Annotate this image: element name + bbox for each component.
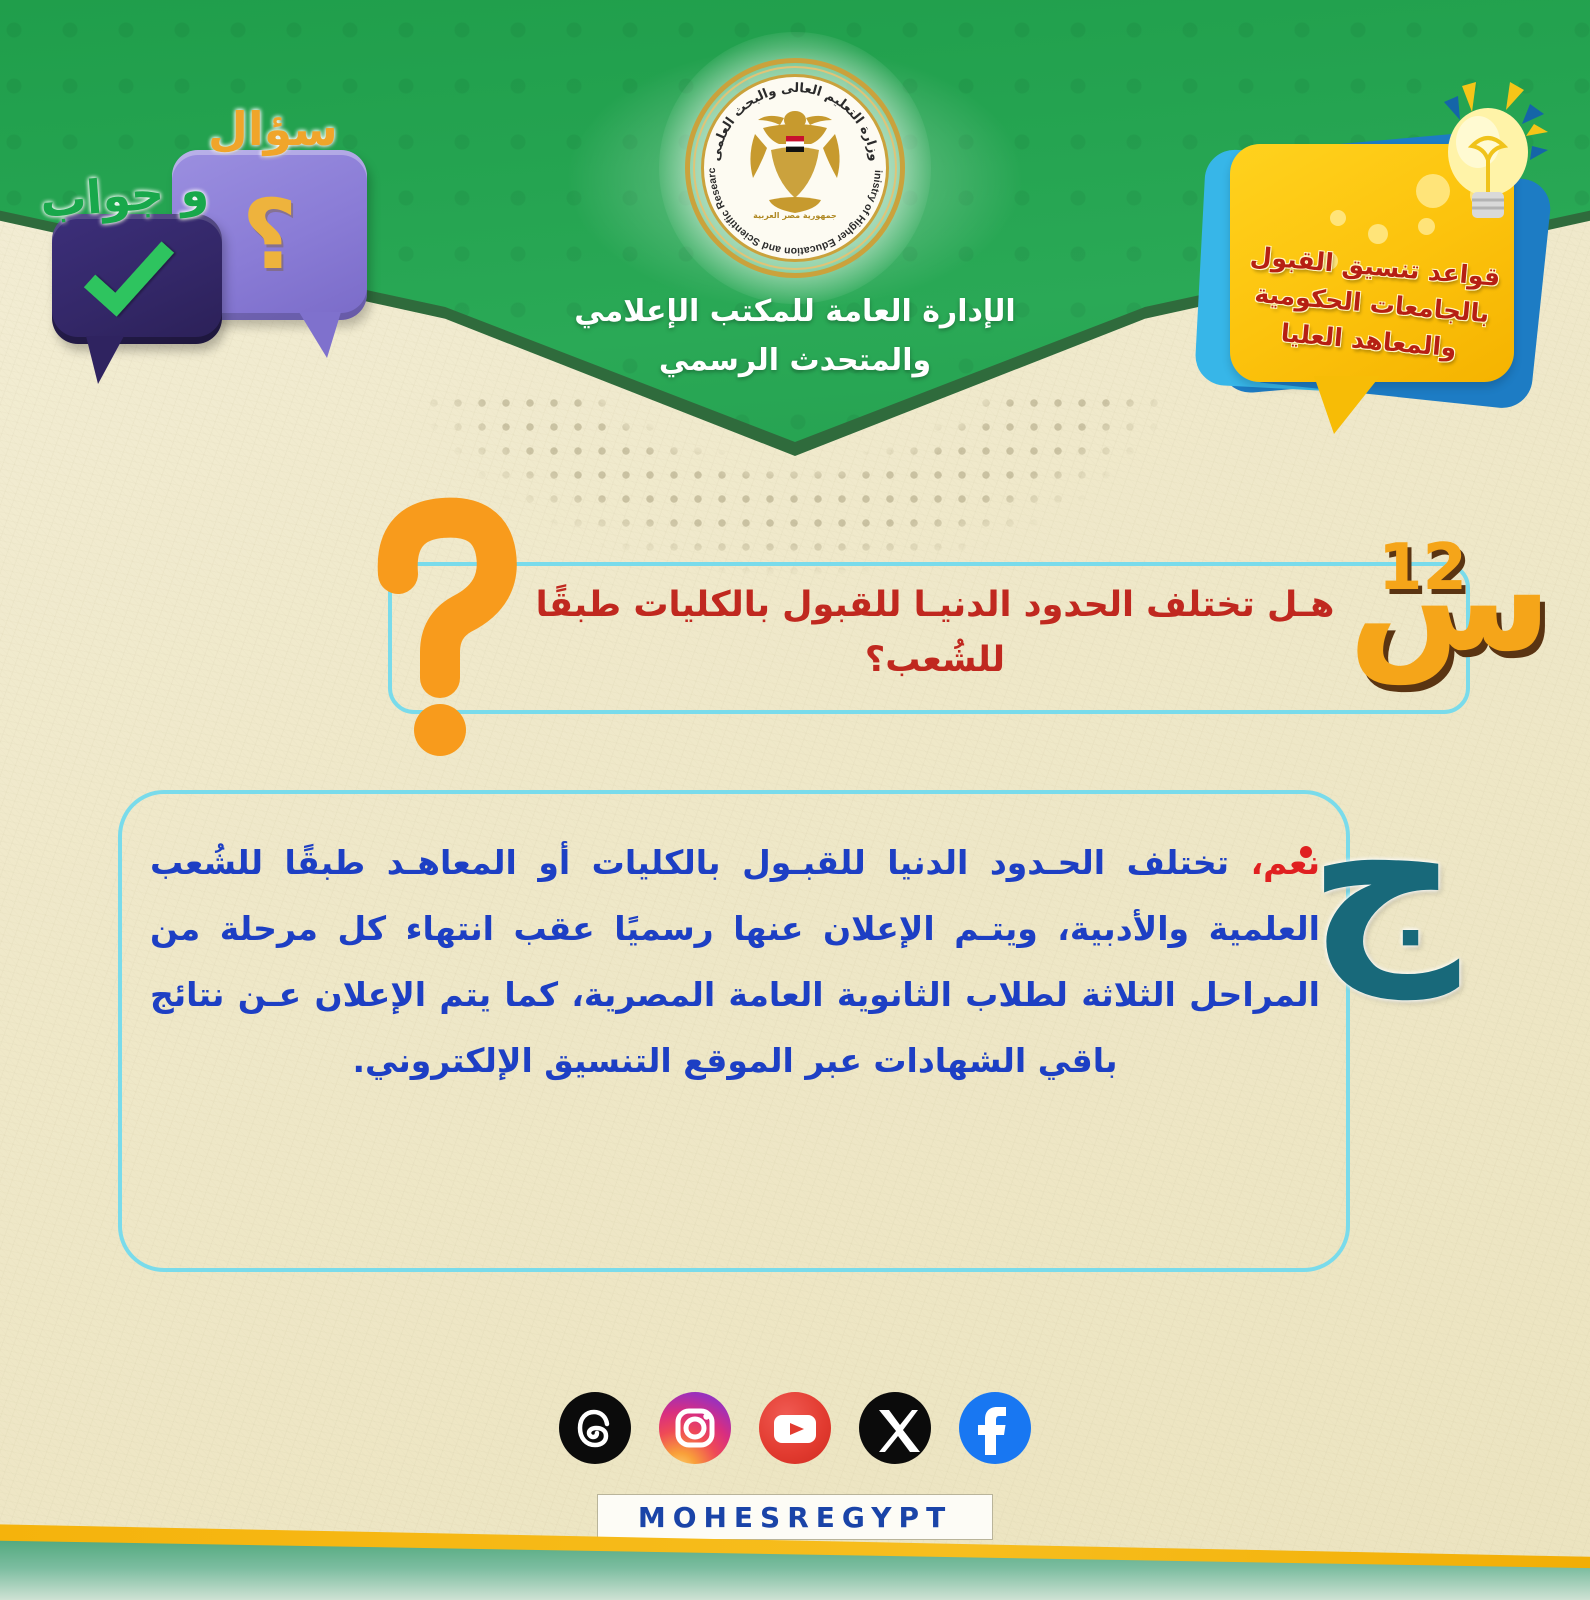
check-mark-icon <box>84 223 174 316</box>
answer-body: تختلف الحـدود الدنيا للقبـول بالكليات أو… <box>150 843 1320 1080</box>
social-handle-box: MOHESREGYPT <box>597 1494 993 1540</box>
question-text: هـل تختلف الحدود الدنيـا للقبول بالكليات… <box>470 578 1400 689</box>
social-handle-text: MOHESREGYPT <box>638 1501 952 1534</box>
qa-badge: ؟ سؤال و جواب <box>22 96 372 406</box>
topic-bubble-3 <box>1330 210 1346 226</box>
answer-text: نعم، تختلف الحـدود الدنيا للقبـول بالكلي… <box>150 830 1320 1094</box>
topic-badge: قواعد تنسيق القبول بالجامعات الحكومية وا… <box>1192 70 1572 440</box>
lightbulb-icon <box>1414 80 1550 240</box>
answer-marker-letter: ج <box>1308 772 1459 982</box>
youtube-icon[interactable] <box>759 1392 831 1464</box>
threads-icon[interactable] <box>559 1392 631 1464</box>
answer-bubble <box>52 214 222 344</box>
qa-question-label: سؤال <box>208 102 338 156</box>
ministry-emblem-icon: وزارة التعليم العالى والبحث العلمى Minis… <box>685 58 905 278</box>
question-number: 12 <box>1378 536 1467 600</box>
topic-bubble-4 <box>1368 224 1388 244</box>
topic-badge-text: قواعد تنسيق القبول بالجامعات الحكومية وا… <box>1234 237 1511 371</box>
instagram-icon[interactable] <box>659 1392 731 1464</box>
svg-text:جمهورية مصر العربية: جمهورية مصر العربية <box>753 211 837 220</box>
emblem-eagle-icon: وزارة التعليم العالى والبحث العلمى Minis… <box>685 58 905 278</box>
x-twitter-icon[interactable] <box>859 1392 931 1464</box>
facebook-icon[interactable] <box>959 1392 1031 1464</box>
social-links <box>0 1392 1590 1464</box>
infographic-card: وزارة التعليم العالى والبحث العلمى Minis… <box>0 0 1590 1600</box>
